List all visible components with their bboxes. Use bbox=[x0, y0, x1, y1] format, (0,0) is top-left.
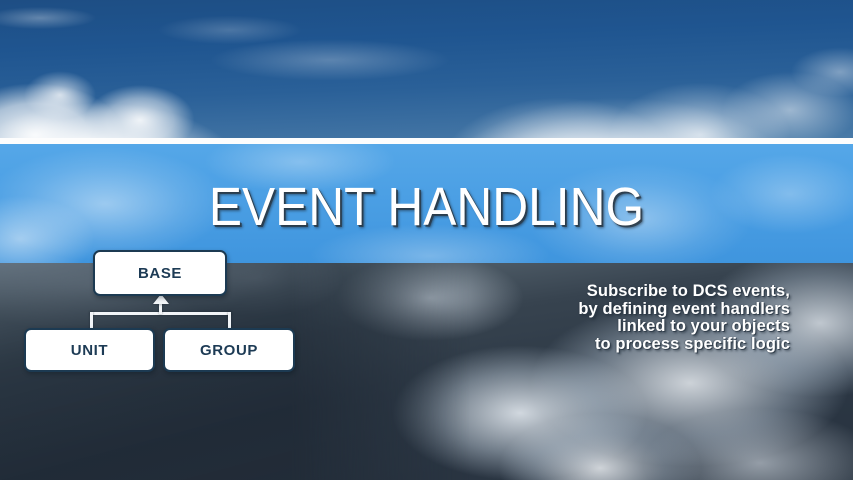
caption-line-4: to process specific logic bbox=[578, 336, 790, 354]
caption-line-2: by defining event handlers bbox=[578, 301, 790, 319]
class-diagram: BASE UNIT GROUP bbox=[0, 0, 853, 480]
caption-block: Subscribe to DCS events, by defining eve… bbox=[578, 283, 790, 353]
caption-line-3: linked to your objects bbox=[578, 318, 790, 336]
slide-canvas: EVENT HANDLING BASE UNIT GROUP Subscribe… bbox=[0, 0, 853, 480]
diagram-node-group[interactable]: GROUP bbox=[163, 328, 295, 372]
diagram-node-unit[interactable]: UNIT bbox=[24, 328, 155, 372]
caption-line-1: Subscribe to DCS events, bbox=[578, 283, 790, 301]
diagram-node-base[interactable]: BASE bbox=[93, 250, 227, 296]
